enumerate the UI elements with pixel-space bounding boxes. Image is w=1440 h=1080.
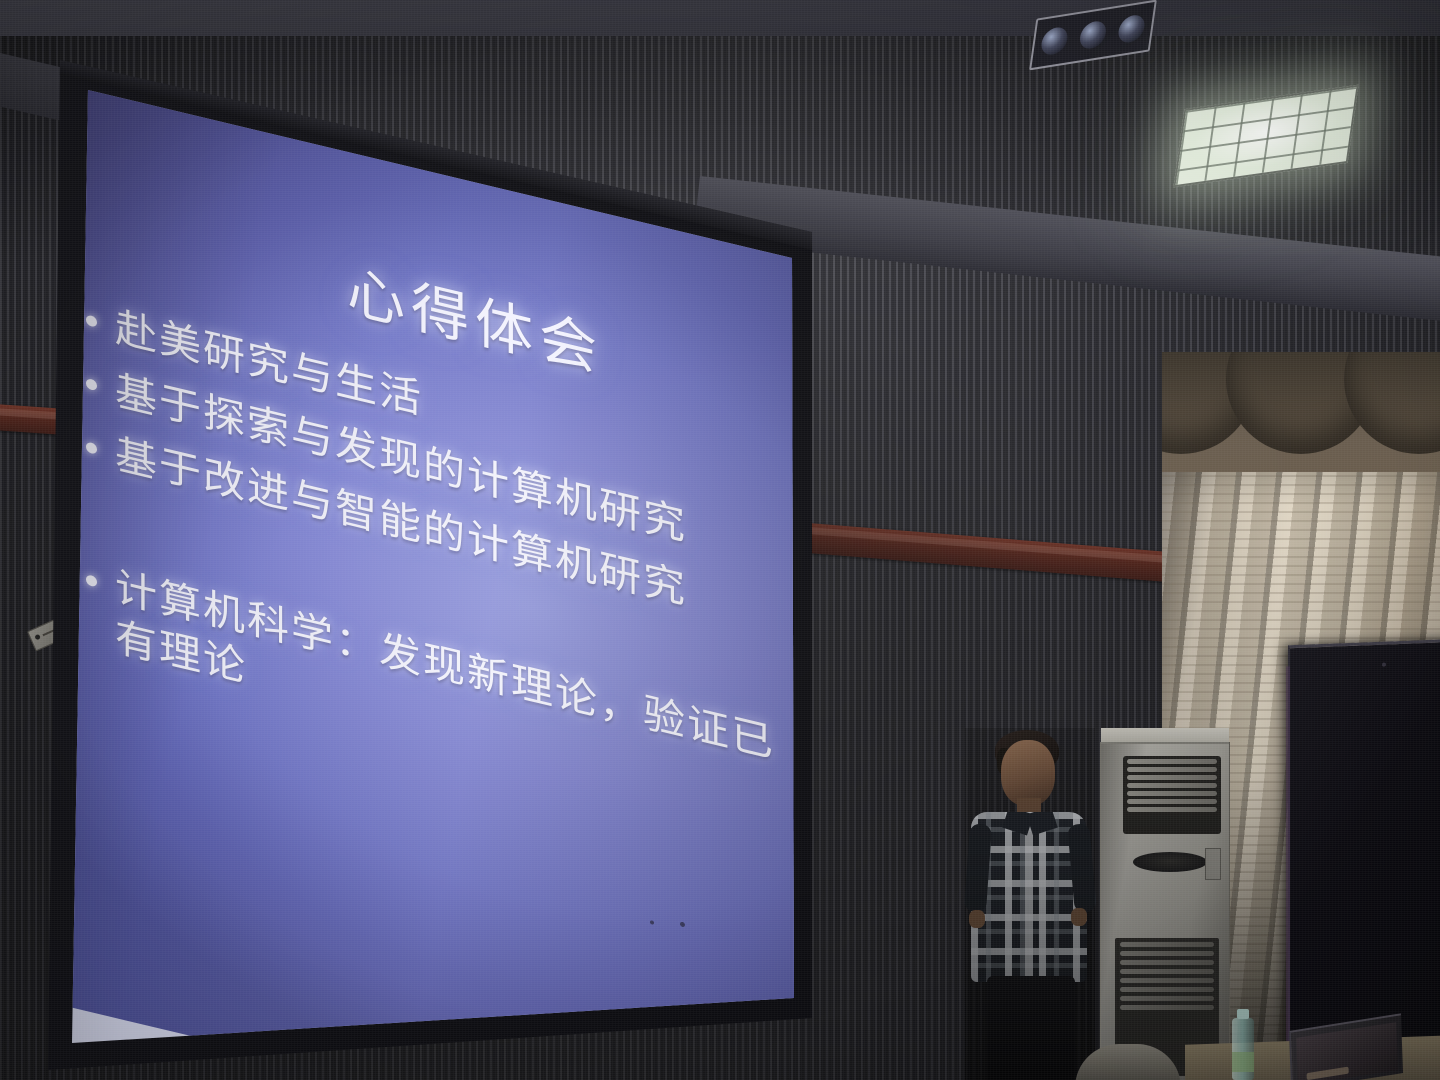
dark-flat-panel-display: [1288, 639, 1440, 1080]
screen-dust-speck: [680, 921, 685, 927]
spotlight-bulb-icon: [1117, 13, 1146, 44]
spotlight-bulb-icon: [1039, 26, 1068, 57]
spotlight-bulb-icon: [1078, 20, 1107, 51]
bottle-label: [1232, 1052, 1254, 1072]
bullet-marker-icon: [86, 574, 97, 587]
panel-edge-highlight: [1286, 666, 1290, 1066]
presenter: [965, 728, 1095, 1080]
bullet-marker-icon: [86, 378, 97, 391]
room-scene: 心得体会 赴美研究与生活 基于探索与发现的计算机研究 基于改进与智能的计: [0, 0, 1440, 1080]
floor-standing-air-conditioner: [1100, 742, 1230, 1080]
presenter-shading: [965, 728, 1095, 1080]
ac-shading: [1101, 742, 1229, 1080]
bullet-marker-icon: [86, 314, 97, 327]
panel-sensor-icon: [1382, 663, 1386, 667]
bullet-marker-icon: [86, 442, 97, 455]
screen-dust-speck: [650, 920, 654, 925]
bottle-cap: [1237, 1009, 1249, 1019]
water-bottle: [1232, 1018, 1254, 1080]
